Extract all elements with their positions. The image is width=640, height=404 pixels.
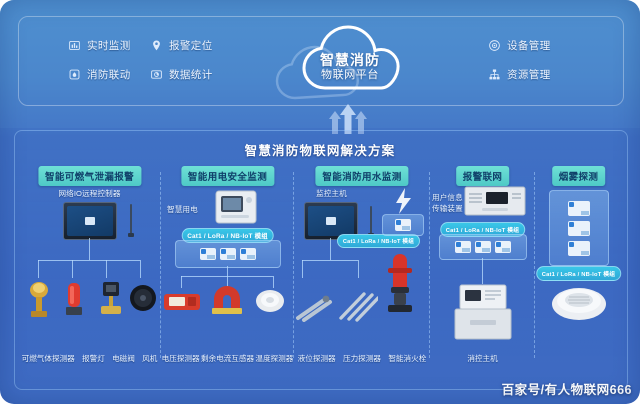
feature-item-alarm-location[interactable]: 报警定位 (150, 38, 213, 53)
column-header-chip[interactable]: 烟雾探测 (552, 166, 606, 186)
solution-column-electric-safety: 智能用电安全监测 智慧用电 Cat1 / LoRa / NB-IoT 模组 (161, 166, 294, 366)
connector-line (302, 260, 303, 278)
fan-device (128, 282, 158, 323)
device-label-row: 可燃气体探测器 报警灯 电磁阀 风机 (18, 353, 161, 364)
voltage-detector-device (163, 288, 201, 321)
solution-column-alarm-network: 报警联网 用户信息 传输装置 Cat1 / LoRa / NB-IoT 模组 消… (430, 166, 535, 366)
temperature-detector-device (255, 288, 285, 319)
device-label: 电磁阀 (112, 353, 135, 364)
connector-line (358, 260, 359, 278)
chart-monitor-icon (68, 39, 81, 52)
connector-line (273, 276, 274, 288)
feature-label: 实时监测 (87, 38, 131, 53)
device-label: 报警灯 (82, 353, 105, 364)
module-card-icon (475, 241, 491, 253)
module-card-icon (395, 219, 411, 231)
device-label: 智能消火栓 (388, 353, 426, 364)
connector-bus (38, 260, 140, 261)
network-io-controller-device (63, 202, 117, 240)
smoke-detector-device (550, 286, 608, 327)
solution-column-water-monitor: 智能消防用水监测 监控主机 Cat1 / LoRa / NB-IoT 模组 (294, 166, 430, 366)
module-card-icon (568, 201, 590, 216)
smart-fire-hydrant-device (386, 252, 414, 323)
feature-group-right: 设备管理 资源管理 (488, 38, 551, 82)
platform-band: 实时监测 消防联动 报警定位 数据统计 (0, 0, 640, 128)
device-label-row: 电压探测器 剩余电流互感器 温度探测器 (161, 353, 294, 364)
monitor-host-caption: 监控主机 (316, 188, 347, 199)
watermark: 百家号/有人物联网666 (502, 379, 632, 398)
fire-linkage-icon (68, 68, 81, 81)
module-box (439, 234, 527, 260)
device-label: 消控主机 (467, 353, 497, 364)
device-label: 液位探测器 (298, 353, 336, 364)
module-card-icon (568, 241, 590, 256)
level-detector-device (294, 292, 334, 327)
feature-label: 设备管理 (507, 38, 551, 53)
alarm-light-device (64, 280, 84, 327)
feature-label: 资源管理 (507, 67, 551, 82)
solution-column-gas-leak: 智能可燃气泄漏报警 网络IO远程控制器 (18, 166, 161, 366)
module-card-icon (240, 248, 256, 260)
device-label: 压力探测器 (343, 353, 381, 364)
fire-control-host-device (454, 284, 512, 345)
cloud-text: 智慧消防 物联网平台 (284, 52, 416, 81)
feature-item-resource-management[interactable]: 资源管理 (488, 67, 551, 82)
connector-line (38, 260, 39, 278)
connector-bus (302, 260, 358, 261)
solution-column-smoke-detection: 烟雾探测 Cat1 / LoRa / NB-IoT 模组 (535, 166, 622, 366)
module-card-icon (495, 241, 511, 253)
module-box (549, 190, 609, 266)
module-box (382, 214, 424, 236)
solenoid-valve-device (98, 278, 124, 327)
device-label-row: 消控主机 (430, 353, 535, 364)
platform-cloud: 智慧消防 物联网平台 (284, 14, 416, 114)
transmitter-caption-line2: 传输装置 (432, 203, 463, 214)
solution-columns: 智能可燃气泄漏报警 网络IO远程控制器 (18, 166, 622, 366)
map-pin-icon (150, 39, 163, 52)
device-label: 电压探测器 (162, 353, 200, 364)
column-header-chip[interactable]: 报警联网 (456, 166, 510, 186)
module-card-icon (455, 241, 471, 253)
module-box (175, 240, 281, 268)
residual-current-transformer-device (209, 284, 245, 321)
feature-group-middle: 报警定位 数据统计 (150, 38, 213, 82)
cloud-title-line2: 物联网平台 (284, 69, 416, 82)
feature-group-left: 实时监测 消防联动 (68, 38, 131, 82)
transmitter-caption-line1: 用户信息 (432, 192, 463, 203)
controller-caption: 网络IO远程控制器 (58, 188, 120, 199)
connector-line (181, 276, 182, 288)
feature-item-device-management[interactable]: 设备管理 (488, 38, 551, 53)
connector-line (72, 260, 73, 278)
infographic-poster: 实时监测 消防联动 报警定位 数据统计 (0, 0, 640, 404)
sitemap-icon (488, 68, 501, 81)
column-header-chip[interactable]: 智能消防用水监测 (315, 166, 408, 186)
pressure-detector-device (338, 290, 378, 327)
page-title: 智慧消防物联网解决方案 (0, 140, 640, 159)
feature-label: 消防联动 (87, 67, 131, 82)
module-card-icon (220, 248, 236, 260)
connector-line (140, 260, 141, 278)
device-label: 温度探测器 (255, 353, 293, 364)
connector-line (106, 260, 107, 278)
smart-electricity-caption: 智慧用电 (167, 204, 198, 215)
gear-circle-icon (488, 39, 501, 52)
smart-electricity-panel-device (215, 190, 257, 229)
connector-line (482, 258, 483, 284)
module-badge: Cat1 / LoRa / NB-IoT 模组 (536, 266, 622, 281)
antenna-icon (130, 204, 132, 234)
feature-item-data-statistics[interactable]: 数据统计 (150, 67, 213, 82)
module-badge: Cat1 / LoRa / NB-IoT 模组 (337, 234, 420, 248)
user-info-transmitter-device (464, 186, 526, 221)
feature-item-fire-linkage[interactable]: 消防联动 (68, 67, 131, 82)
column-header-chip[interactable]: 智能可燃气泄漏报警 (38, 166, 141, 186)
connector-line (89, 238, 90, 260)
cloud-title-line1: 智慧消防 (284, 52, 416, 69)
device-label: 风机 (142, 353, 157, 364)
connector-line (330, 238, 331, 260)
statistics-icon (150, 68, 163, 81)
column-header-chip[interactable]: 智能用电安全监测 (181, 166, 274, 186)
device-label: 剩余电流互感器 (201, 353, 254, 364)
gas-detector-device (26, 278, 52, 327)
device-label: 可燃气体探测器 (22, 353, 75, 364)
connector-line (227, 266, 228, 276)
feature-label: 报警定位 (169, 38, 213, 53)
device-label-row: 液位探测器 压力探测器 智能消火栓 (294, 353, 430, 364)
antenna-icon (370, 206, 372, 234)
feature-item-realtime-monitor[interactable]: 实时监测 (68, 38, 131, 53)
module-card-icon (200, 248, 216, 260)
module-card-icon (568, 221, 590, 236)
feature-label: 数据统计 (169, 67, 213, 82)
